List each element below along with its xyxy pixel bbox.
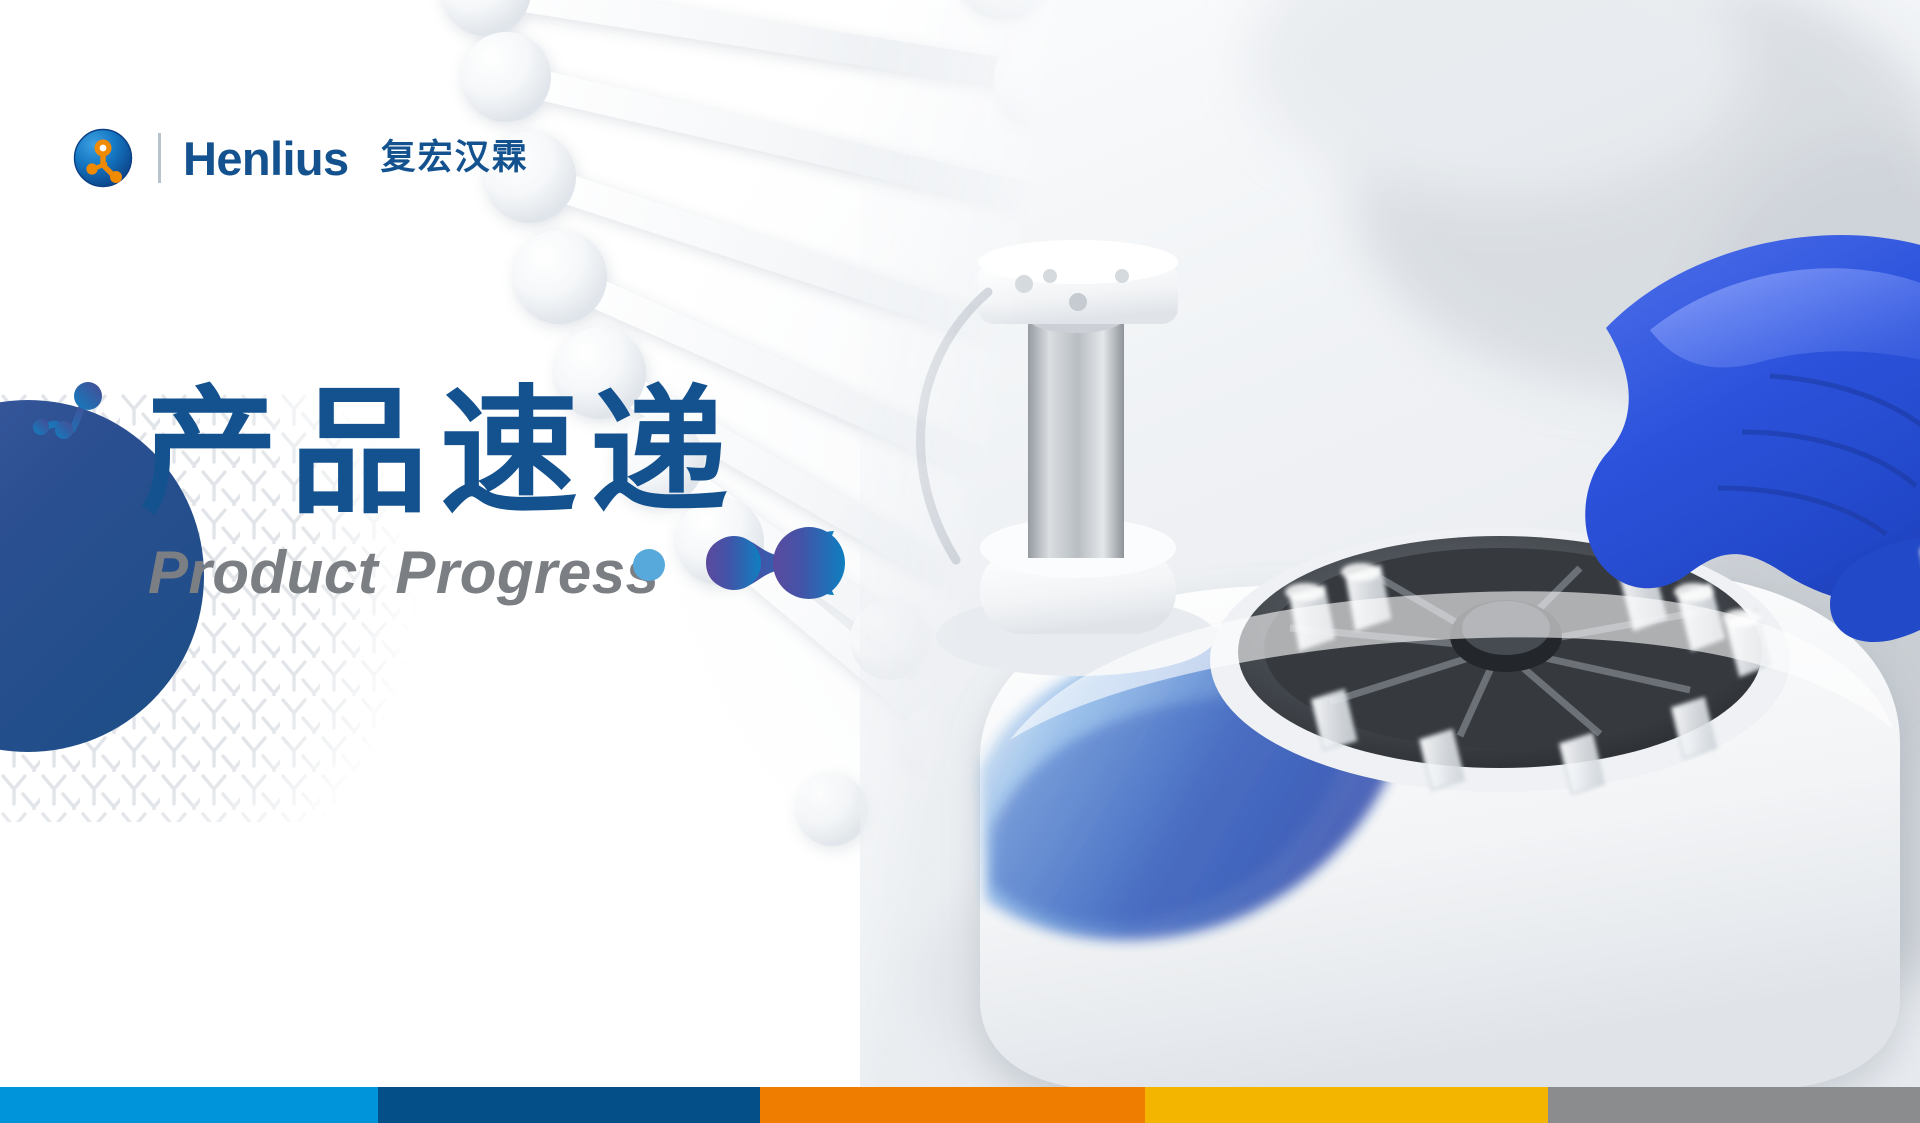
decorative-molecule-dumbbell xyxy=(698,527,846,599)
logo-name-cn: 复宏汉霖 xyxy=(381,141,529,176)
segment-amber xyxy=(1145,1087,1548,1123)
logo-name-en: Henlius xyxy=(183,135,349,182)
logo-divider xyxy=(158,133,161,183)
lab-centrifuge-gloved-hand-photo xyxy=(860,0,1920,1090)
decorative-dot xyxy=(633,549,665,581)
segment-light-blue xyxy=(0,1087,378,1123)
henlius-molecule-badge-icon xyxy=(72,127,134,189)
brand-logo[interactable]: Henlius 复宏汉霖 xyxy=(72,122,529,194)
bottom-color-bar xyxy=(0,1087,1920,1123)
presentation-cover-slide: Henlius 复宏汉霖 产品速递 Product Progress xyxy=(0,0,1920,1123)
segment-grey xyxy=(1548,1087,1920,1123)
segment-orange xyxy=(760,1087,1145,1123)
segment-dark-blue xyxy=(378,1087,760,1123)
page-title-cn: 产品速递 xyxy=(140,378,740,527)
